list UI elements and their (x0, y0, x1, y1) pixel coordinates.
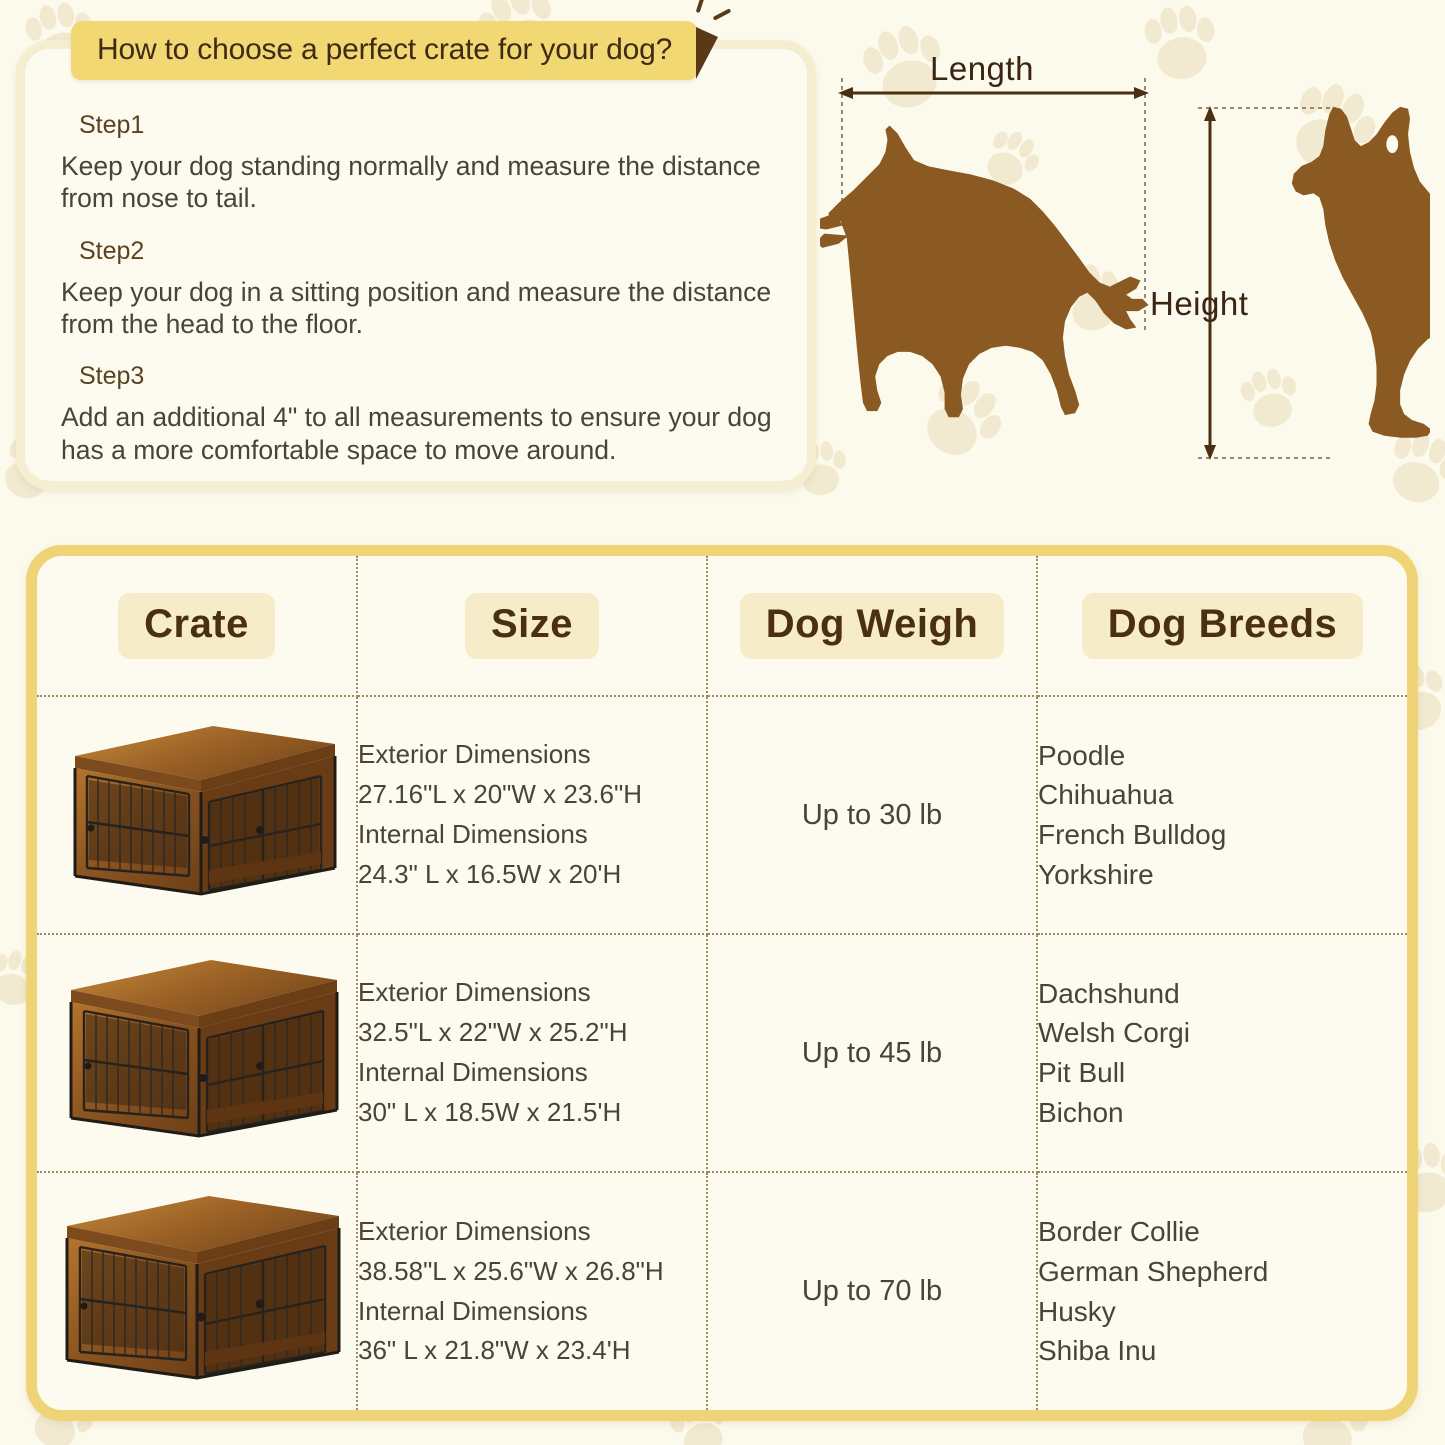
step-item: Step2 Keep your dog in a sitting positio… (61, 233, 777, 341)
breed-item: Poodle (1038, 736, 1407, 776)
standing-dog-silhouette (820, 125, 1149, 417)
sitting-dog-silhouette (1292, 107, 1430, 438)
breed-item: German Shepherd (1038, 1252, 1407, 1292)
header-pill-crate: Crate (118, 593, 275, 659)
breed-item: French Bulldog (1038, 815, 1407, 855)
size-line: Internal Dimensions (358, 1292, 706, 1332)
table-header: Crate Size Dog Weigh Dog Breeds (37, 556, 1407, 696)
step-item: Step3 Add an additional 4" to all measur… (61, 358, 777, 466)
size-line: 27.16"L x 20"W x 23.6"H (358, 775, 706, 815)
cell-size-text: Exterior Dimensions 27.16"L x 20"W x 23.… (357, 696, 707, 934)
diagram-graphics (820, 30, 1430, 500)
breed-item: Welsh Corgi (1038, 1013, 1407, 1053)
height-label: Height (1150, 285, 1248, 323)
length-arrow-head-right (1134, 87, 1149, 99)
size-line: Exterior Dimensions (358, 735, 706, 775)
cell-dog-breeds: Dachshund Welsh Corgi Pit Bull Bichon (1037, 934, 1407, 1172)
spark-line-icon (696, 0, 707, 13)
table-body: Exterior Dimensions 27.16"L x 20"W x 23.… (37, 696, 1407, 1410)
crate-size-table-container: Crate Size Dog Weigh Dog Breeds (26, 545, 1418, 1421)
column-header-dog-breeds: Dog Breeds (1037, 556, 1407, 696)
size-line: Exterior Dimensions (358, 973, 706, 1013)
size-line: Internal Dimensions (358, 1053, 706, 1093)
size-line: 38.58"L x 25.6"W x 26.8"H (358, 1252, 706, 1292)
dog-measurement-diagram: Length Height (820, 30, 1430, 500)
breed-item: Pit Bull (1038, 1053, 1407, 1093)
size-line: 32.5"L x 22"W x 25.2"H (358, 1013, 706, 1053)
header-pill-size: Size (465, 593, 599, 659)
card-title-ribbon: How to choose a perfect crate for your d… (71, 21, 698, 80)
size-line: 30" L x 18.5W x 21.5'H (358, 1093, 706, 1133)
cell-dog-weight: Up to 45 lb (707, 934, 1037, 1172)
step-item: Step1 Keep your dog standing normally an… (61, 107, 777, 215)
cell-dog-weight: Up to 70 lb (707, 1172, 1037, 1410)
pencil-tip-icon (696, 27, 718, 79)
cell-crate-image (37, 1172, 357, 1410)
size-line: Internal Dimensions (358, 815, 706, 855)
column-header-crate: Crate (37, 556, 357, 696)
size-line: 24.3" L x 16.5W x 20'H (358, 855, 706, 895)
breed-item: Chihuahua (1038, 775, 1407, 815)
cell-size-text: Exterior Dimensions 32.5"L x 22"W x 25.2… (357, 934, 707, 1172)
cell-dog-breeds: Poodle Chihuahua French Bulldog Yorkshir… (1037, 696, 1407, 934)
breed-item: Bichon (1038, 1093, 1407, 1133)
cell-crate-image (37, 696, 357, 934)
length-arrow-head-left (838, 87, 853, 99)
header-pill-dog-weigh: Dog Weigh (740, 593, 1005, 659)
table-header-row: Crate Size Dog Weigh Dog Breeds (37, 556, 1407, 696)
dog-eye (1386, 135, 1398, 153)
crate-size-table: Crate Size Dog Weigh Dog Breeds (37, 556, 1407, 1410)
column-header-size: Size (357, 556, 707, 696)
steps-list: Step1 Keep your dog standing normally an… (25, 107, 807, 484)
table-row: Exterior Dimensions 27.16"L x 20"W x 23.… (37, 696, 1407, 934)
breed-item: Yorkshire (1038, 855, 1407, 895)
breed-item: Dachshund (1038, 974, 1407, 1014)
cell-crate-image (37, 934, 357, 1172)
instruction-card: How to choose a perfect crate for your d… (16, 40, 816, 490)
size-line: 36" L x 21.8"W x 23.4'H (358, 1331, 706, 1371)
top-section: How to choose a perfect crate for your d… (0, 0, 1445, 520)
page-title: How to choose a perfect crate for your d… (97, 33, 672, 66)
dog-crate-furniture-icon (53, 1194, 341, 1384)
spark-line-icon (713, 8, 732, 20)
length-label: Length (930, 50, 1034, 88)
step-badge-2: Step2 (61, 233, 162, 271)
cell-dog-breeds: Border Collie German Shepherd Husky Shib… (1037, 1172, 1407, 1410)
dog-crate-furniture-icon (53, 956, 341, 1146)
breed-item: Shiba Inu (1038, 1331, 1407, 1371)
cell-size-text: Exterior Dimensions 38.58"L x 25.6"W x 2… (357, 1172, 707, 1410)
breed-item: Husky (1038, 1292, 1407, 1332)
column-header-dog-weigh: Dog Weigh (707, 556, 1037, 696)
breed-item: Border Collie (1038, 1212, 1407, 1252)
table-row: Exterior Dimensions 32.5"L x 22"W x 25.2… (37, 934, 1407, 1172)
table-row: Exterior Dimensions 38.58"L x 25.6"W x 2… (37, 1172, 1407, 1410)
step-text-2: Keep your dog in a sitting position and … (61, 276, 777, 341)
header-pill-dog-breeds: Dog Breeds (1082, 593, 1364, 659)
step-badge-3: Step3 (61, 358, 162, 396)
step-text-1: Keep your dog standing normally and meas… (61, 150, 777, 215)
cell-dog-weight: Up to 30 lb (707, 696, 1037, 934)
dog-crate-furniture-icon (53, 718, 341, 908)
step-badge-1: Step1 (61, 107, 162, 145)
size-line: Exterior Dimensions (358, 1212, 706, 1252)
step-text-3: Add an additional 4" to all measurements… (61, 401, 777, 466)
